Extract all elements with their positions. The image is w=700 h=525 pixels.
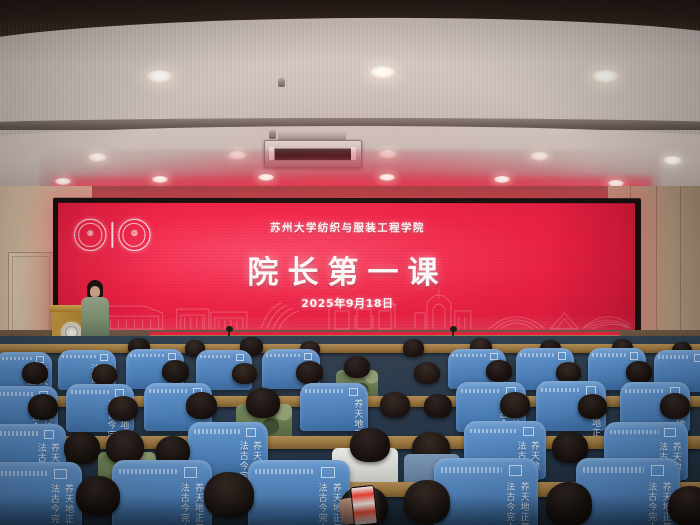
seat-brand-strip (520, 353, 554, 356)
ceiling-downlight (146, 70, 173, 83)
seat-brand-strip (441, 467, 501, 473)
ceiling-downlight (152, 176, 168, 183)
seat-brand-strip (130, 354, 164, 357)
auditorium-seat[interactable]: 养天地正气 法古今完人 (434, 458, 538, 525)
audience-head (578, 394, 607, 419)
ceiling-downlight (55, 178, 71, 185)
audience-head (403, 339, 424, 357)
audience-head (660, 393, 690, 419)
ceiling-downlight (258, 174, 274, 181)
audience-head (106, 430, 144, 464)
audience-head (344, 356, 370, 378)
smartphone-recording[interactable] (350, 485, 378, 525)
audience-head (404, 480, 450, 524)
audience-head (486, 360, 512, 382)
presenter-face (90, 286, 100, 297)
seat-motto-left: 法古今完人 (178, 483, 188, 525)
seat-brand-strip (583, 467, 643, 473)
seat-brand-strip (149, 389, 188, 393)
seat-brand-strip (658, 355, 690, 358)
seat-motto-left: 法古今完人 (504, 482, 514, 525)
seat-brand-strip (592, 353, 626, 356)
audience-head (64, 432, 100, 464)
seat-seal-icon (630, 352, 638, 359)
seat-motto-right: 养天地正气 (518, 482, 528, 525)
audience-head (500, 392, 530, 418)
seat-seal-icon (304, 353, 312, 360)
audience-head (668, 486, 700, 525)
audience-head (108, 396, 138, 421)
screen-scanlines (58, 203, 635, 331)
ceiling-downlight (494, 176, 510, 183)
ceiling-downlight (369, 66, 396, 79)
seat-motto-right: 养天地正气 (62, 484, 72, 525)
seat-brand-strip (255, 469, 314, 474)
audience-head (232, 363, 257, 384)
audience-head (28, 394, 58, 420)
seat-seal-icon (694, 354, 700, 361)
seat-brand-strip (0, 431, 38, 435)
presenter-body (81, 297, 109, 337)
seat-brand-strip (0, 471, 47, 476)
ceiling-downlight (663, 156, 682, 165)
auditorium-seat[interactable]: 养天地正气 法古今完人 (112, 460, 212, 525)
seat-motto-right: 养天地正气 (192, 483, 202, 525)
presenter-speaker (80, 280, 110, 336)
audience-head (246, 388, 280, 418)
seat-seal-icon (100, 354, 108, 361)
ceiling-downlight (379, 174, 395, 181)
smoke-detector-icon (278, 78, 285, 87)
audience-head (556, 362, 581, 383)
seat-brand-strip (470, 429, 518, 434)
seat-brand-strip (461, 389, 502, 393)
seat-seal-icon (523, 427, 534, 437)
audience-head (22, 362, 48, 384)
auditorium-seat[interactable]: 养天地正气 法古今完人 (0, 462, 82, 525)
audience-head (296, 361, 323, 384)
led-display-frame: ❋ ❁ 苏州大学纺织与服装工程学院 院长第一课 2025年9月18日 (53, 198, 641, 338)
seat-brand-strip (200, 355, 232, 358)
audience-head (424, 394, 452, 418)
seat-brand-strip (62, 355, 96, 358)
seat-seal-icon (664, 428, 675, 438)
seat-seal-icon (651, 465, 664, 476)
seat-brand-strip (71, 390, 110, 394)
audience-seating-area: 养天地正气 法古今完人 养天地正气 法古今完人 (0, 336, 700, 525)
seat-seal-icon (44, 430, 55, 439)
audience-head (414, 362, 440, 384)
seat-motto-left: 法古今完人 (48, 484, 58, 525)
seat-brand-strip (0, 392, 34, 396)
seat-motto-left: 法古今完人 (646, 482, 656, 525)
auditorium-seat[interactable]: 养天地正气 法古今完人 (248, 460, 350, 525)
audience-head (204, 472, 254, 518)
audience-head (92, 364, 117, 385)
audience-head (76, 476, 120, 516)
seat-seal-icon (54, 469, 67, 480)
seat-motto: 养天地正气 (311, 399, 361, 429)
auditorium-seat[interactable]: 养天地正气 法古今完人 (576, 458, 680, 525)
seat-brand-strip (0, 357, 32, 360)
seat-seal-icon (321, 467, 334, 478)
seat-seal-icon (236, 354, 244, 361)
seat-seal-icon (509, 465, 522, 476)
seat-brand-strip (194, 429, 240, 433)
seat-brand-strip (119, 469, 177, 474)
audience-head (546, 482, 592, 525)
seat-motto: 养天地正气 法古今完人 (451, 482, 528, 525)
ceiling-downlight (592, 70, 619, 83)
seat-seal-icon (246, 428, 257, 437)
audience-head (186, 392, 217, 419)
auditorium-seat[interactable]: 养天地正气 (300, 383, 368, 431)
audience-head (626, 361, 652, 383)
seat-brand-strip (625, 389, 666, 393)
lecture-hall-photo: ❋ ❁ 苏州大学纺织与服装工程学院 院长第一课 2025年9月18日 (0, 0, 700, 525)
seat-brand-strip (266, 354, 300, 357)
seat-brand-strip (452, 354, 486, 357)
audience-head (350, 428, 390, 462)
seat-brand-strip (610, 430, 659, 435)
seat-motto: 养天地正气 法古今完人 (0, 484, 72, 525)
seat-motto: 养天地正气 法古今完人 (593, 482, 670, 525)
seat-brand-strip (305, 389, 344, 393)
seat-brand-strip (541, 388, 582, 392)
seat-motto: 养天地正气 法古今完人 (128, 483, 202, 525)
seat-motto-right: 养天地正气 (351, 399, 361, 429)
seat-seal-icon (184, 467, 197, 478)
audience-head (380, 392, 410, 418)
seat-motto: 养天地正气 法古今完人 (264, 483, 340, 525)
seat-seal-icon (558, 352, 566, 359)
seat-seal-icon (349, 388, 358, 396)
smoke-detector-icon (269, 130, 276, 139)
seat-motto-left: 法古今完人 (237, 441, 247, 476)
audience-head (162, 360, 189, 383)
seat-motto-left: 法古今完人 (316, 483, 326, 525)
led-display[interactable]: ❋ ❁ 苏州大学纺织与服装工程学院 院长第一课 2025年9月18日 (58, 203, 635, 331)
